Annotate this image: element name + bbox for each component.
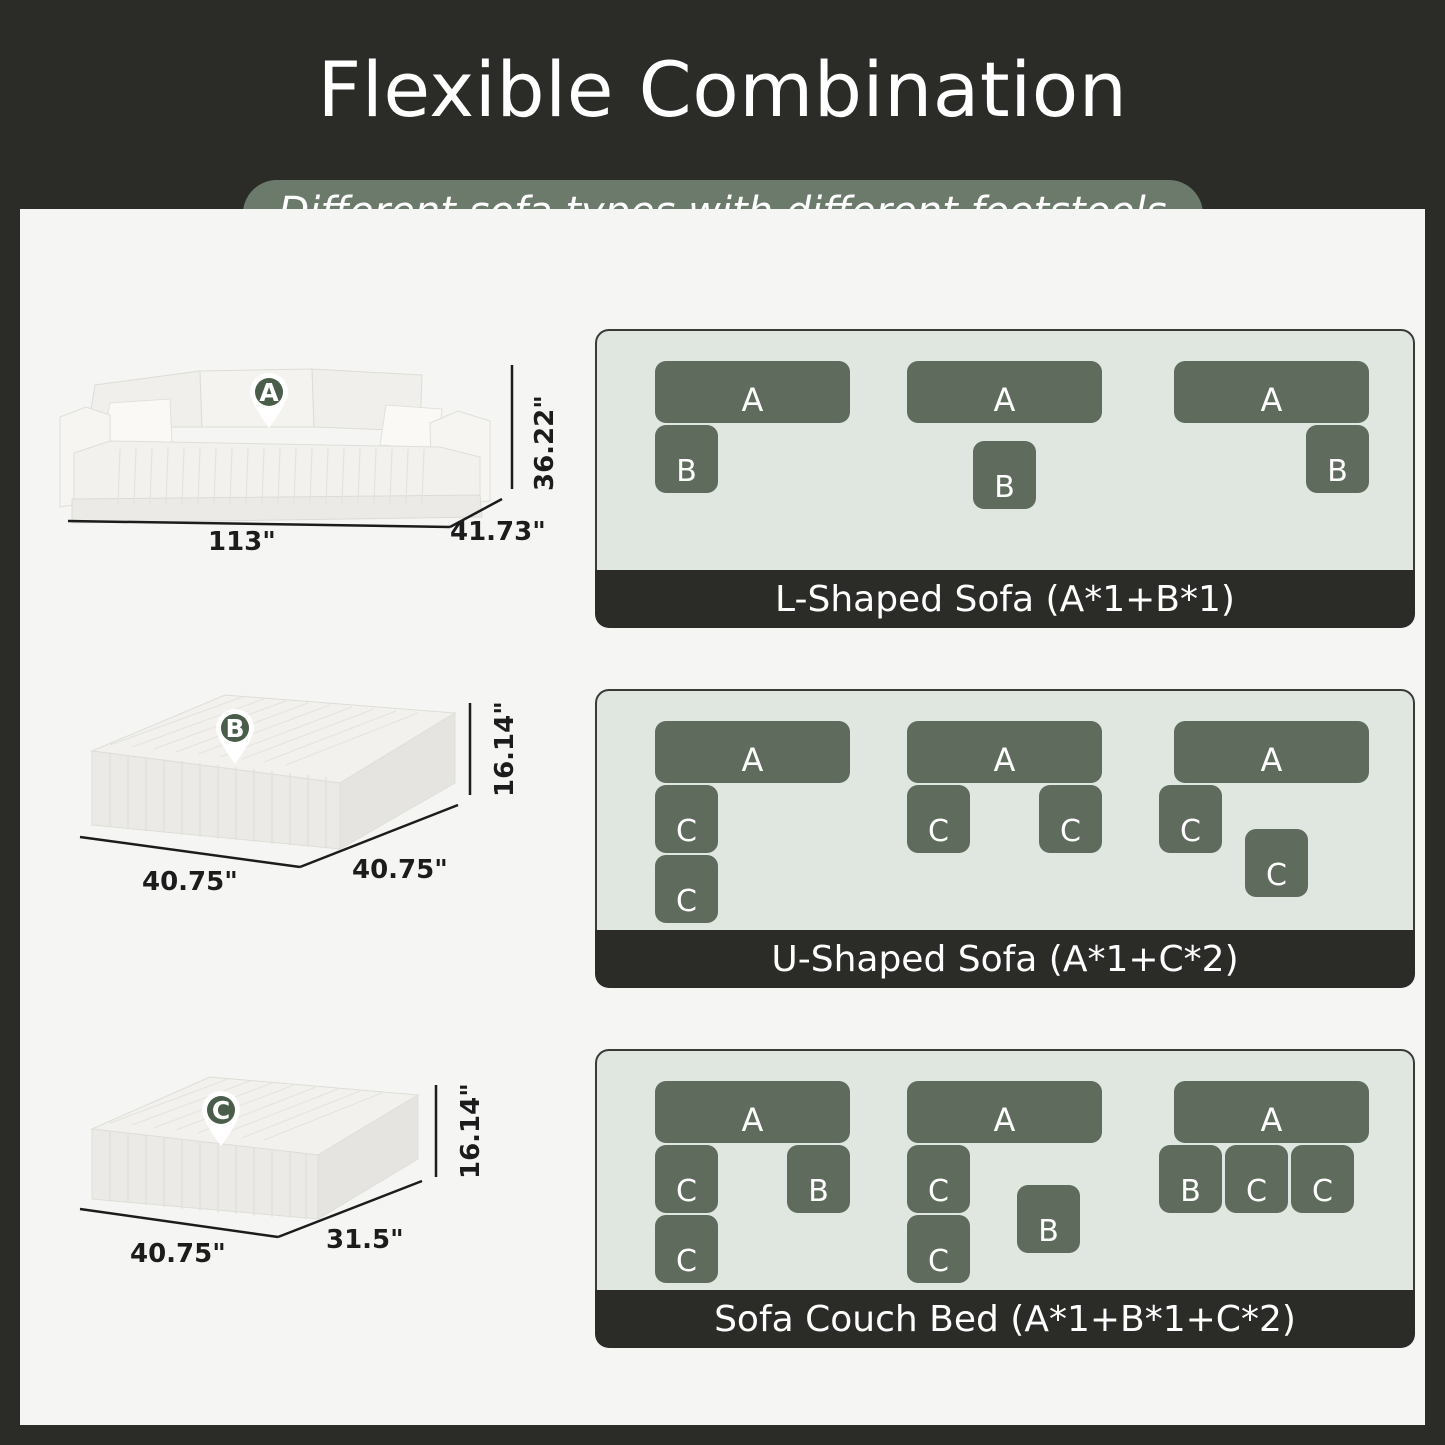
module-block-a: A: [655, 1081, 850, 1143]
marker-letter: C: [198, 1096, 244, 1126]
module-group: ACC: [1159, 721, 1369, 921]
dim-height-a: 36.22": [530, 395, 560, 491]
dim-width-a: 113": [208, 527, 276, 557]
card-label: U-Shaped Sofa (A*1+C*2): [595, 930, 1415, 988]
product-sofa-a: A 113" 41.73" 36.22": [50, 349, 570, 579]
module-block-b: B: [655, 425, 718, 493]
module-group: AB: [655, 361, 865, 561]
content-board: A 113" 41.73" 36.22": [20, 209, 1425, 1425]
module-group: AB: [1159, 361, 1369, 561]
dim-depth-b: 40.75": [352, 855, 448, 885]
module-group: AB: [907, 361, 1117, 561]
dim-width-b: 40.75": [142, 867, 238, 897]
module-block-c: C: [1039, 785, 1102, 853]
dim-height-c: 16.14": [456, 1083, 486, 1179]
module-block-a: A: [1174, 1081, 1369, 1143]
module-block-a: A: [655, 721, 850, 783]
card-diagram-area: ABABAB: [595, 329, 1415, 584]
module-block-b: B: [1159, 1145, 1222, 1213]
module-block-c: C: [1245, 829, 1308, 897]
dim-width-c: 40.75": [130, 1239, 226, 1269]
module-group: ACCB: [655, 1081, 865, 1281]
module-block-c: C: [1225, 1145, 1288, 1213]
card-diagram-area: ACCACCACC: [595, 689, 1415, 944]
module-block-c: C: [1291, 1145, 1354, 1213]
ottoman-c-illustration: C: [50, 1059, 570, 1299]
module-block-b: B: [1306, 425, 1369, 493]
module-block-b: B: [1017, 1185, 1080, 1253]
module-group: ACC: [907, 721, 1117, 921]
marker-pin-c: C: [198, 1089, 244, 1147]
module-group: ACC: [655, 721, 865, 921]
product-ottoman-b: B 40.75" 40.75" 16.14": [50, 679, 570, 919]
card-label: L-Shaped Sofa (A*1+B*1): [595, 570, 1415, 628]
marker-pin-a: A: [246, 371, 292, 429]
marker-letter: B: [212, 714, 258, 744]
module-block-b: B: [973, 441, 1036, 509]
module-block-c: C: [907, 1145, 970, 1213]
infographic-frame: Flexible Combination Different sofa type…: [0, 0, 1445, 1445]
module-block-a: A: [1174, 361, 1369, 423]
module-block-a: A: [907, 721, 1102, 783]
module-block-a: A: [655, 361, 850, 423]
module-block-c: C: [655, 855, 718, 923]
module-block-a: A: [1174, 721, 1369, 783]
dim-height-b: 16.14": [490, 701, 520, 797]
module-block-b: B: [787, 1145, 850, 1213]
ottoman-c-svg: [50, 1059, 500, 1274]
dim-depth-a: 41.73": [450, 517, 546, 547]
module-block-a: A: [907, 1081, 1102, 1143]
combination-card-u-shaped: ACCACCACC U-Shaped Sofa (A*1+C*2): [595, 689, 1415, 988]
module-block-a: A: [907, 361, 1102, 423]
dim-depth-c: 31.5": [326, 1225, 404, 1255]
combination-card-sofa-bed: ACCBACCBABCC Sofa Couch Bed (A*1+B*1+C*2…: [595, 1049, 1415, 1348]
card-label: Sofa Couch Bed (A*1+B*1+C*2): [595, 1290, 1415, 1348]
module-block-c: C: [655, 1215, 718, 1283]
card-diagram-area: ACCBACCBABCC: [595, 1049, 1415, 1304]
module-block-c: C: [1159, 785, 1222, 853]
module-block-c: C: [907, 785, 970, 853]
combination-card-l-shaped: ABABAB L-Shaped Sofa (A*1+B*1): [595, 329, 1415, 628]
module-block-c: C: [655, 1145, 718, 1213]
marker-pin-b: B: [212, 707, 258, 765]
marker-letter: A: [246, 378, 292, 408]
product-ottoman-c: C 40.75" 31.5" 16.14": [50, 1059, 570, 1299]
module-group: ABCC: [1159, 1081, 1369, 1281]
module-block-c: C: [655, 785, 718, 853]
module-group: ACCB: [907, 1081, 1117, 1281]
module-block-c: C: [907, 1215, 970, 1283]
page-title: Flexible Combination: [0, 52, 1445, 128]
